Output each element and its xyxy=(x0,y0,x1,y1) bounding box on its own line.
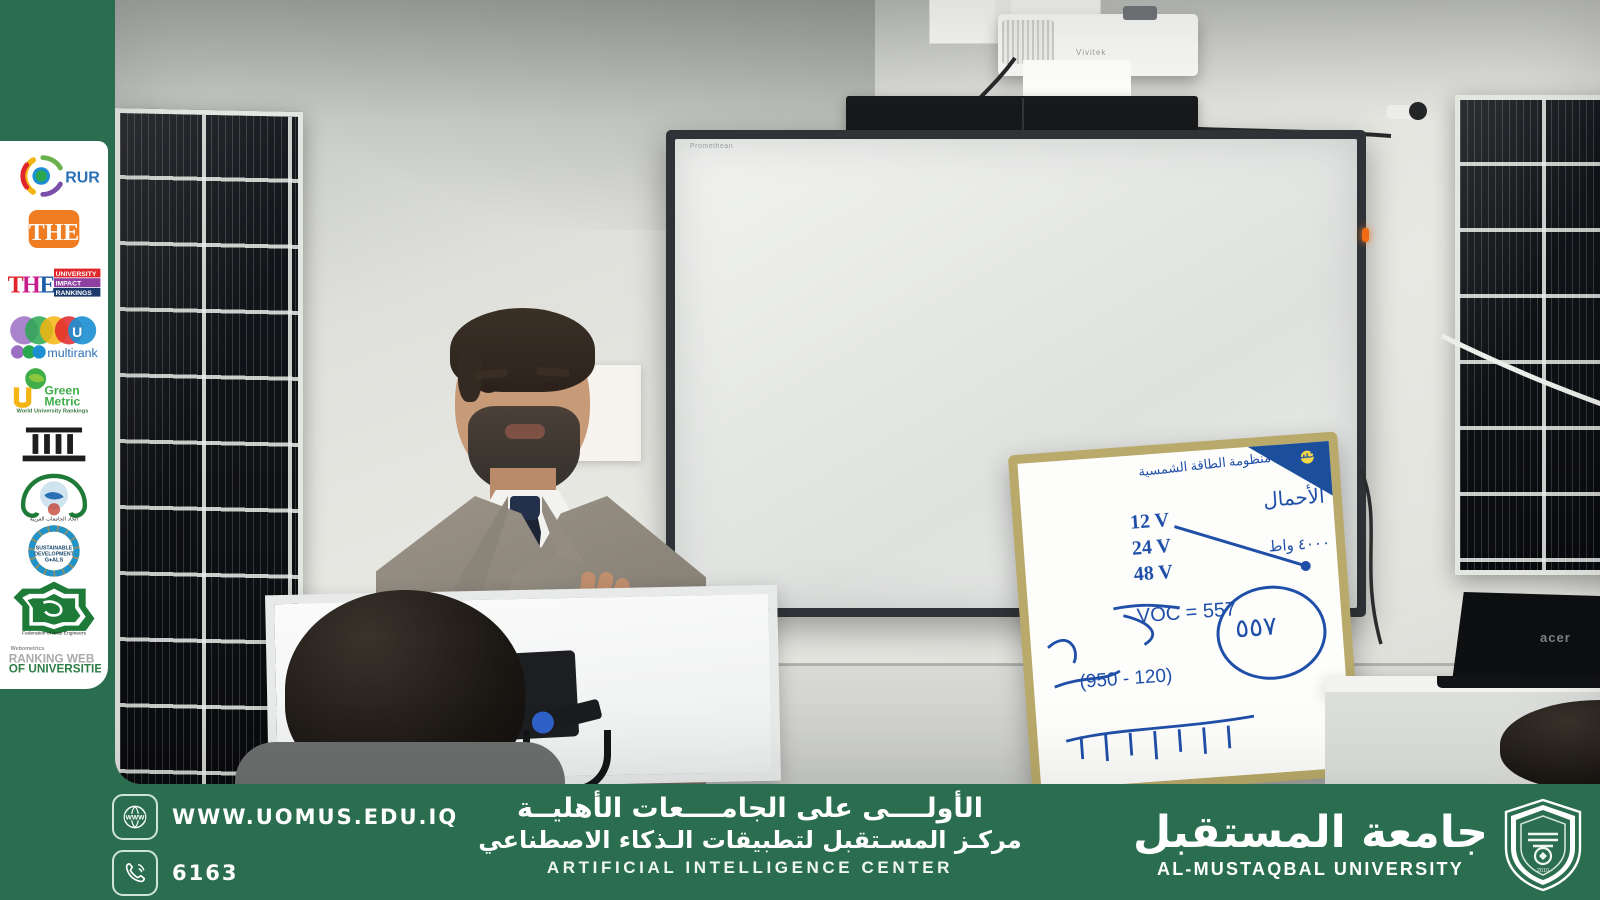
center-titles: الأولــــى على الجامــــعات الأهليــة مر… xyxy=(430,792,1070,878)
university-name-block: جامعة المستقبل AL-MUSTAQBAL UNIVERSITY xyxy=(1133,811,1488,880)
smartboard-brand-label: Promethean xyxy=(690,143,733,150)
footer-headline: الأولــــى على الجامــــعات الأهليــة xyxy=(430,792,1070,825)
website-row[interactable]: WWW WWW.UOMUS.EDU.IQ xyxy=(112,794,458,840)
svg-text:THE: THE xyxy=(29,220,79,246)
phone-row[interactable]: 6163 xyxy=(112,850,458,896)
smartboard-cable xyxy=(1353,470,1423,650)
accreditation-badge-panel: RUR THE T H E UNIVERSITY IMPACT RANKINGS xyxy=(0,141,108,689)
the-university-impact-rankings-badge: T H E UNIVERSITY IMPACT RANKINGS xyxy=(6,256,102,310)
times-higher-education-badge: THE xyxy=(6,203,102,257)
phone-number: 6163 xyxy=(172,861,238,885)
svg-text:multirank: multirank xyxy=(47,345,98,359)
svg-text:U: U xyxy=(72,324,82,340)
svg-text:Metric: Metric xyxy=(44,395,80,409)
rur-ranking-badge: RUR xyxy=(6,149,102,203)
u-multirank-badge: U multirank xyxy=(6,310,102,364)
banner-stage: Vivitek Promethean xyxy=(0,0,1600,900)
footer-bar: WWW WWW.UOMUS.EDU.IQ 6163 الأولــــى على… xyxy=(0,784,1600,900)
association-of-arab-universities-badge: اتحاد الجامعات العربية xyxy=(6,471,102,525)
sustainable-development-goals-badge: SUSTAINABLE DEVELOPMENT G♦ALS xyxy=(6,524,102,578)
projector-lens-icon xyxy=(1123,6,1157,20)
svg-text:G♦ALS: G♦ALS xyxy=(45,557,64,563)
svg-text:World University Rankings: World University Rankings xyxy=(16,409,88,414)
event-photo: Vivitek Promethean xyxy=(115,0,1600,784)
university-name-en: AL-MUSTAQBAL UNIVERSITY xyxy=(1133,859,1488,880)
svg-text:Federation of Arab Engineers: Federation of Arab Engineers xyxy=(22,630,86,636)
laptop xyxy=(1452,592,1600,682)
power-plug-head xyxy=(1409,102,1427,120)
ui-greenmetric-badge: Green Metric World University Rankings xyxy=(6,363,102,417)
svg-text:SUSTAINABLE: SUSTAINABLE xyxy=(36,545,73,551)
svg-text:WWW: WWW xyxy=(126,814,146,821)
portable-whiteboard: حسابات منظومة الطاقة الشمسية 12 V 24 V 4… xyxy=(1008,431,1362,784)
whiteboard-circuit-sketch xyxy=(1017,441,1352,784)
svg-text:Webometrics: Webometrics xyxy=(11,646,45,652)
svg-text:2010: 2010 xyxy=(1537,868,1549,874)
svg-text:E: E xyxy=(40,273,56,299)
university-name-ar: جامعة المستقبل xyxy=(1133,811,1488,855)
svg-text:RUR: RUR xyxy=(65,169,100,186)
svg-text:IMPACT: IMPACT xyxy=(56,280,82,287)
smartboard-status-led-icon xyxy=(1362,228,1369,242)
federation-of-arab-engineers-badge: Federation of Arab Engineers xyxy=(6,578,102,638)
svg-text:RANKINGS: RANKINGS xyxy=(56,290,93,297)
svg-text:UNIVERSITY: UNIVERSITY xyxy=(56,271,97,278)
panel-wire xyxy=(1440,330,1600,450)
laptop-brand-label: acer xyxy=(1540,630,1571,645)
svg-text:اتحاد الجامعات العربية: اتحاد الجامعات العربية xyxy=(30,517,78,522)
laptop-base xyxy=(1437,676,1600,688)
ai-center-name-en: ARTIFICIAL INTELLIGENCE CENTER xyxy=(430,858,1070,878)
presenter-hair xyxy=(450,308,595,392)
phone-icon xyxy=(112,850,158,896)
svg-text:H: H xyxy=(22,273,41,299)
student-foreground-shoulders xyxy=(235,742,565,784)
columns-institution-badge xyxy=(6,417,102,471)
svg-text:OF UNIVERSITIES: OF UNIVERSITIES xyxy=(9,663,101,676)
svg-text:DEVELOPMENT: DEVELOPMENT xyxy=(34,551,74,557)
soundbar xyxy=(846,96,1198,134)
contact-block: WWW WWW.UOMUS.EDU.IQ 6163 xyxy=(112,794,458,896)
ai-center-name-ar: مركـز المسـتقبل لتطبيقات الـذكاء الاصطنا… xyxy=(430,825,1070,856)
website-url: WWW.UOMUS.EDU.IQ xyxy=(172,805,458,829)
webometrics-ranking-web-badge: Webometrics RANKING WEB OF UNIVERSITIES xyxy=(6,638,102,679)
www-globe-icon: WWW xyxy=(112,794,158,840)
university-shield-crest-icon: 2010 xyxy=(1500,798,1586,892)
presenter-mouth xyxy=(505,424,545,439)
university-brand-lockup: جامعة المستقبل AL-MUSTAQBAL UNIVERSITY 2… xyxy=(1133,798,1586,892)
